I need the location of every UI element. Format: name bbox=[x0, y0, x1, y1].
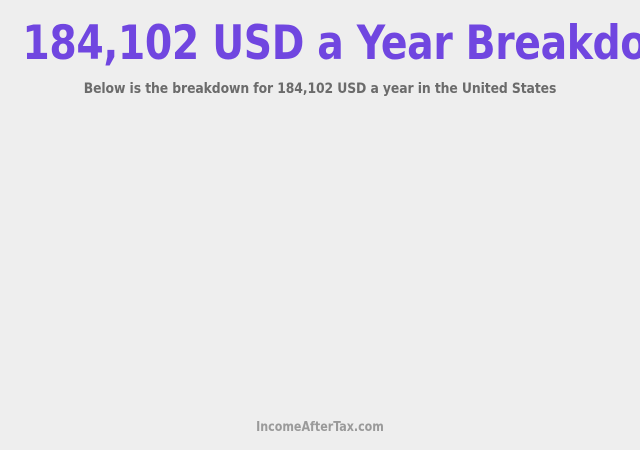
page-header: 184,102 USD a Year Breakdown Below is th… bbox=[0, 0, 640, 98]
page-footer: IncomeAfterTax.com bbox=[0, 420, 640, 450]
chart-area bbox=[0, 98, 640, 420]
page-title: 184,102 USD a Year Breakdown bbox=[22, 18, 617, 70]
chart-plot-area-empty bbox=[0, 98, 640, 420]
site-credit: IncomeAfterTax.com bbox=[16, 420, 624, 436]
income-breakdown-page: 184,102 USD a Year Breakdown Below is th… bbox=[0, 0, 640, 450]
page-subtitle: Below is the breakdown for 184,102 USD a… bbox=[16, 70, 624, 98]
